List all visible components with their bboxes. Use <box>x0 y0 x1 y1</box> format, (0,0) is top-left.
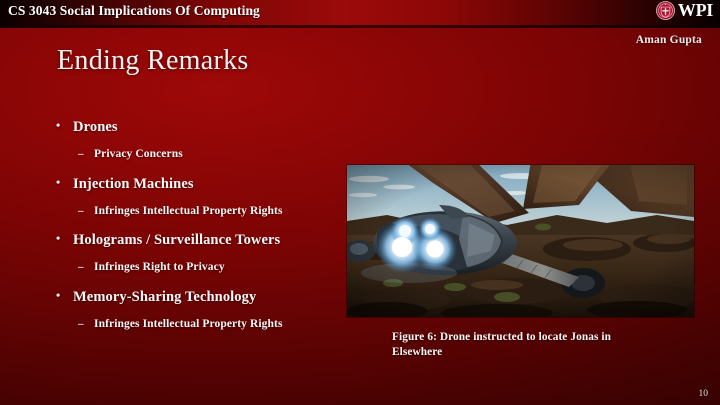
wpi-seal-icon <box>656 1 675 20</box>
bullet-text: Infringes Intellectual Property Rights <box>94 204 283 218</box>
dash-marker-icon: – <box>78 204 94 218</box>
bullet-marker-icon: • <box>56 118 73 133</box>
figure-caption: Figure 6: Drone instructed to locate Jon… <box>392 330 662 360</box>
bullet-marker-icon: • <box>56 175 73 190</box>
bullet-text: Privacy Concerns <box>94 147 183 161</box>
slide-header-bar: CS 3043 Social Implications Of Computing… <box>0 0 720 25</box>
bullet-list: • Drones – Privacy Concerns • Injection … <box>56 118 356 331</box>
bullet-marker-icon: • <box>56 231 73 246</box>
bullet-text: Infringes Right to Privacy <box>94 260 225 274</box>
bullet-item-level1: • Injection Machines <box>56 175 356 193</box>
dash-marker-icon: – <box>78 317 94 331</box>
bullet-item-level2: – Privacy Concerns <box>56 147 356 161</box>
bullet-text: Drones <box>73 118 118 136</box>
bullet-item-level2: – Infringes Intellectual Property Rights <box>56 204 356 218</box>
author-name: Aman Gupta <box>636 34 702 46</box>
bullet-item-level1: • Memory-Sharing Technology <box>56 288 356 306</box>
bullet-text: Infringes Intellectual Property Rights <box>94 317 283 331</box>
bullet-item-level1: • Holograms / Surveillance Towers <box>56 231 356 249</box>
bullet-marker-icon: • <box>56 288 73 303</box>
bullet-text: Injection Machines <box>73 175 194 193</box>
dash-marker-icon: – <box>78 147 94 161</box>
drone-photo <box>347 165 694 317</box>
bullet-item-level2: – Infringes Intellectual Property Rights <box>56 317 356 331</box>
page-number: 10 <box>699 389 709 399</box>
bullet-text: Memory-Sharing Technology <box>73 288 256 306</box>
course-title: CS 3043 Social Implications Of Computing <box>8 3 260 19</box>
wpi-wordmark: WPI <box>678 1 713 20</box>
slide-title: Ending Remarks <box>57 45 249 77</box>
presentation-slide: CS 3043 Social Implications Of Computing… <box>0 0 720 405</box>
bullet-text: Holograms / Surveillance Towers <box>73 231 280 249</box>
bullet-item-level2: – Infringes Right to Privacy <box>56 260 356 274</box>
wpi-logo: WPI <box>656 1 713 20</box>
bullet-item-level1: • Drones <box>56 118 356 136</box>
dash-marker-icon: – <box>78 260 94 274</box>
figure-container <box>347 165 694 317</box>
